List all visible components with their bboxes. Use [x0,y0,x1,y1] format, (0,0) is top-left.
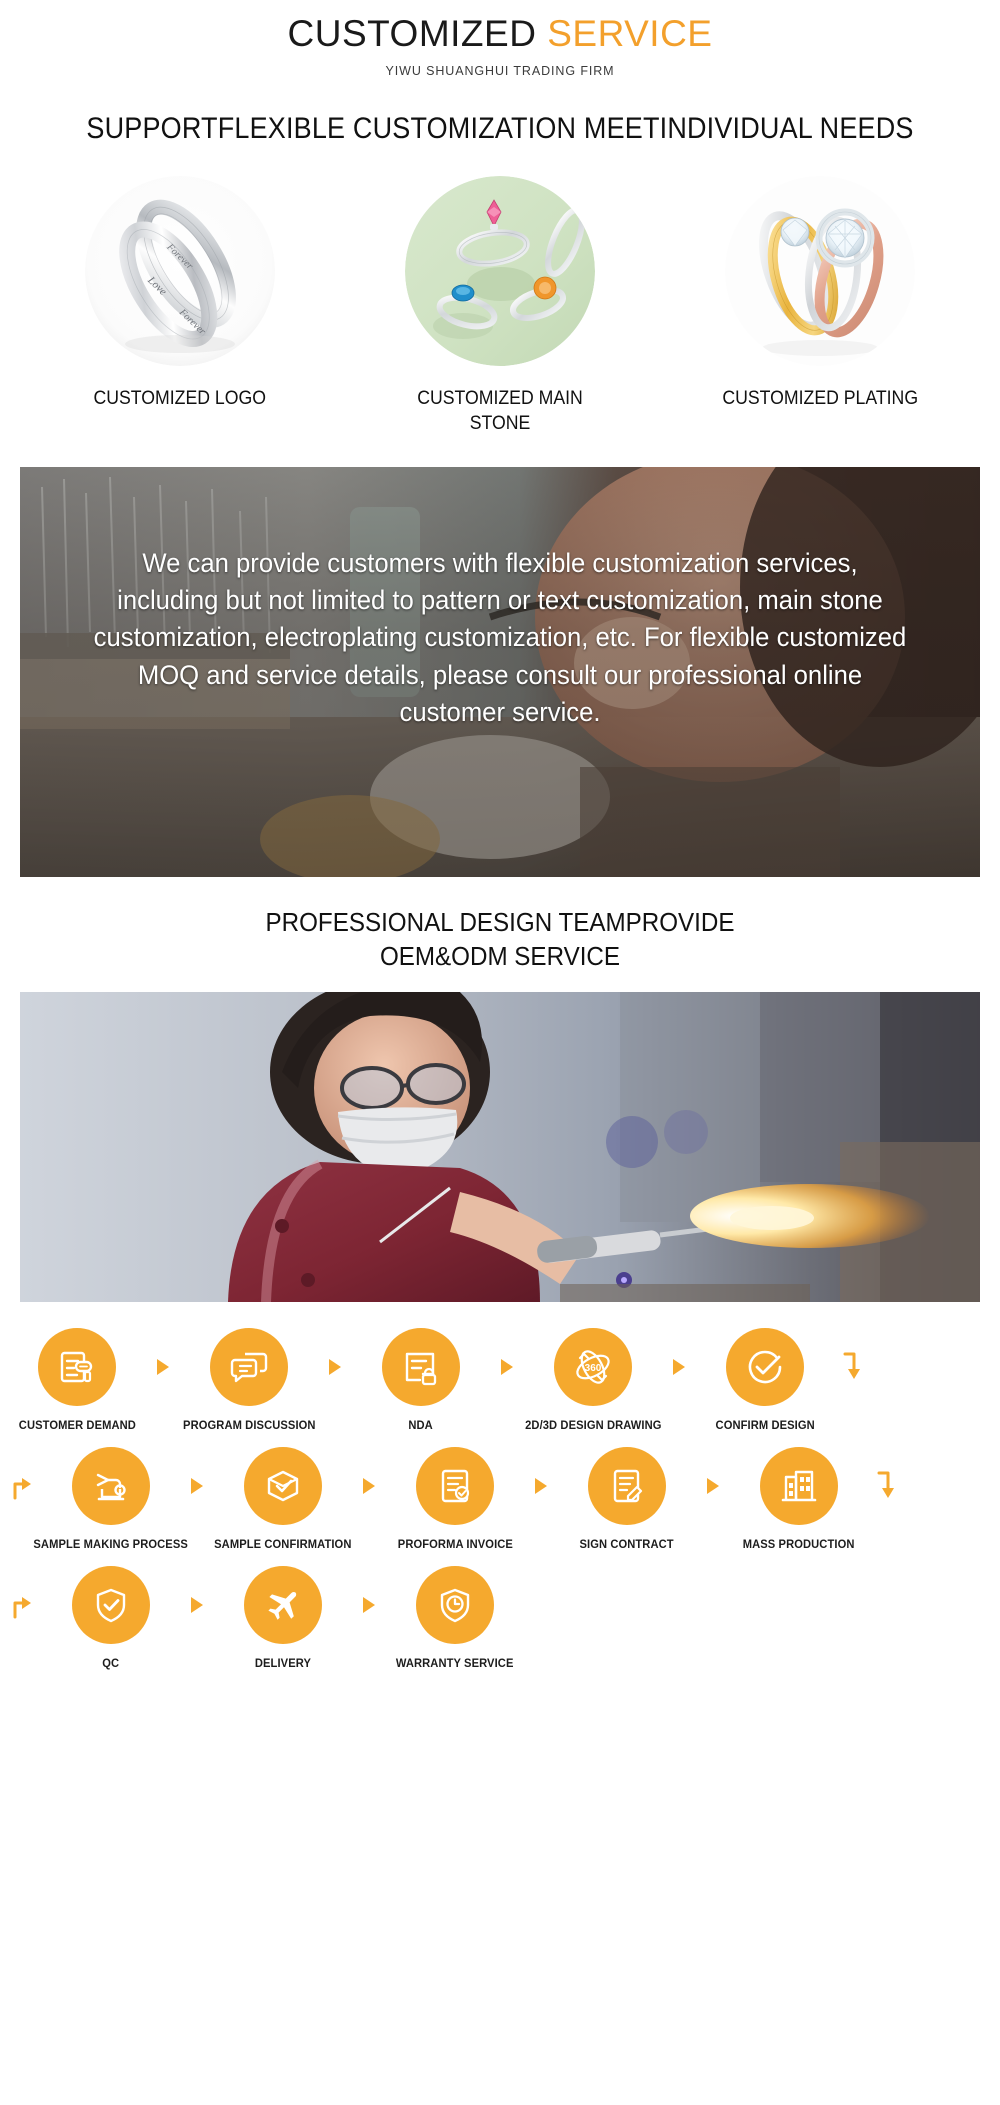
colored-gemstone-rings-photo [405,176,595,366]
process-bubble[interactable] [244,1447,322,1525]
card-caption: CUSTOMIZED LOGO [94,386,266,412]
process-step-confirm-design[interactable]: CONFIRM DESIGN [694,1328,836,1433]
flow-arrow-icon [320,1328,350,1406]
process-step-label: PROGRAM DISCUSSION [183,1419,316,1433]
process-step-label: NDA [409,1419,433,1433]
banner-paragraph: We can provide customers with flexible c… [92,545,909,731]
document-search-icon [56,1346,98,1388]
process-step-delivery[interactable]: DELIVERY [212,1566,354,1671]
flow-arrow-icon [698,1447,728,1525]
box-check-icon [262,1465,304,1507]
flow-wrap-down-arrow-icon [836,1328,870,1406]
page-title: CUSTOMIZED SERVICE [0,14,1000,55]
process-bubble[interactable] [244,1566,322,1644]
flow-arrow-icon [526,1447,556,1525]
customized-service-page: CUSTOMIZED SERVICE YIWU SHUANGHUI TRADIN… [0,0,1000,1716]
process-row-2: SAMPLE MAKING PROCESS SAMPLE CONFIRMATIO… [6,1447,994,1552]
flow-wrap-in-arrow-icon [6,1447,40,1525]
section-2-heading-line-2: OEM&ODM SERVICE [35,939,965,973]
process-bubble[interactable] [382,1328,460,1406]
engraved-couple-rings-photo: Love Forever Forever [85,176,275,366]
process-step-label: SAMPLE MAKING PROCESS [34,1538,189,1552]
process-bubble[interactable]: 360 [554,1328,632,1406]
flow-arrow-icon [182,1566,212,1644]
flow-arrow-icon [354,1566,384,1644]
process-bubble[interactable] [72,1566,150,1644]
section-1-heading: SUPPORTFLEXIBLE CUSTOMIZATION MEETINDIVI… [50,112,950,146]
svg-text:360: 360 [585,1363,602,1374]
process-step-customer-demand[interactable]: CUSTOMER DEMAND [6,1328,148,1433]
machine-arm-icon [90,1465,132,1507]
process-step-mass-production[interactable]: MASS PRODUCTION [728,1447,870,1552]
page-header: CUSTOMIZED SERVICE YIWU SHUANGHUI TRADIN… [0,0,1000,78]
customization-cards: Love Forever Forever CUSTOMIZED LOGO [0,176,1000,437]
360-rotate-icon: 360 [571,1345,615,1389]
contract-pen-icon [606,1465,648,1507]
flow-arrow-icon [182,1447,212,1525]
process-step-label: DELIVERY [255,1657,311,1671]
process-step-label: PROFORMA INVOICE [397,1538,512,1552]
process-bubble[interactable] [210,1328,288,1406]
process-step-label: SIGN CONTRACT [580,1538,674,1552]
process-step-nda[interactable]: NDA [350,1328,492,1433]
process-bubble[interactable] [760,1447,838,1525]
jewelry-craftswoman-torch-photo [20,992,980,1302]
shield-check-icon [90,1584,132,1626]
customization-banner: We can provide customers with flexible c… [20,467,980,877]
card-caption: CUSTOMIZED MAIN STONE [417,386,583,437]
process-step-label: CONFIRM DESIGN [715,1419,814,1433]
card-caption: CUSTOMIZED PLATING [722,386,918,412]
process-step-label: WARRANTY SERVICE [396,1657,514,1671]
flow-arrow-icon [354,1447,384,1525]
process-bubble[interactable] [72,1447,150,1525]
page-title-word-2: SERVICE [547,13,712,54]
page-title-word-1: CUSTOMIZED [288,13,537,54]
airplane-icon [262,1584,304,1626]
process-step-label: SAMPLE CONFIRMATION [214,1538,351,1552]
section-2-heading: PROFESSIONAL DESIGN TEAMPROVIDE OEM&ODM … [35,905,965,974]
process-bubble[interactable] [588,1447,666,1525]
process-row-3: QC DELIVERY [6,1566,994,1671]
process-step-sample-confirmation[interactable]: SAMPLE CONFIRMATION [212,1447,354,1552]
shield-clock-icon [434,1584,476,1626]
flow-arrow-icon [664,1328,694,1406]
process-step-qc[interactable]: QC [40,1566,182,1671]
factory-icon [778,1465,820,1507]
process-step-program-discussion[interactable]: PROGRAM DISCUSSION [178,1328,320,1433]
process-row-1: CUSTOMER DEMAND PROGRAM DISCUSSION [6,1328,994,1433]
process-step-label: QC [103,1657,120,1671]
process-bubble[interactable] [416,1566,494,1644]
check-circle-icon [744,1346,786,1388]
flow-wrap-down-arrow-icon [870,1447,904,1525]
process-step-2d-3d-design-drawing[interactable]: 360 2D/3D DESIGN DRAWING [522,1328,664,1433]
process-step-proforma-invoice[interactable]: PROFORMA INVOICE [384,1447,526,1552]
process-bubble[interactable] [726,1328,804,1406]
flow-wrap-in-arrow-icon [6,1566,40,1644]
card-customized-plating[interactable]: CUSTOMIZED PLATING [680,176,960,412]
card-customized-main-stone[interactable]: CUSTOMIZED MAIN STONE [360,176,640,437]
process-step-label: 2D/3D DESIGN DRAWING [525,1419,661,1433]
process-step-label: MASS PRODUCTION [743,1538,855,1552]
card-customized-logo[interactable]: Love Forever Forever CUSTOMIZED LOGO [40,176,320,412]
process-step-warranty-service[interactable]: WARRANTY SERVICE [384,1566,526,1671]
chat-bubbles-icon [228,1346,270,1388]
process-flow: CUSTOMER DEMAND PROGRAM DISCUSSION [0,1328,1000,1716]
gold-rose-gold-silver-rings-photo [725,176,915,366]
section-2-heading-line-1: PROFESSIONAL DESIGN TEAMPROVIDE [35,905,965,939]
company-subtitle: YIWU SHUANGHUI TRADING FIRM [0,64,1000,78]
process-bubble[interactable] [38,1328,116,1406]
process-step-sign-contract[interactable]: SIGN CONTRACT [556,1447,698,1552]
process-step-label: CUSTOMER DEMAND [18,1419,135,1433]
process-step-sample-making-process[interactable]: SAMPLE MAKING PROCESS [40,1447,182,1552]
document-lock-icon [400,1346,442,1388]
invoice-icon [434,1465,476,1507]
process-bubble[interactable] [416,1447,494,1525]
flow-arrow-icon [148,1328,178,1406]
flow-arrow-icon [492,1328,522,1406]
